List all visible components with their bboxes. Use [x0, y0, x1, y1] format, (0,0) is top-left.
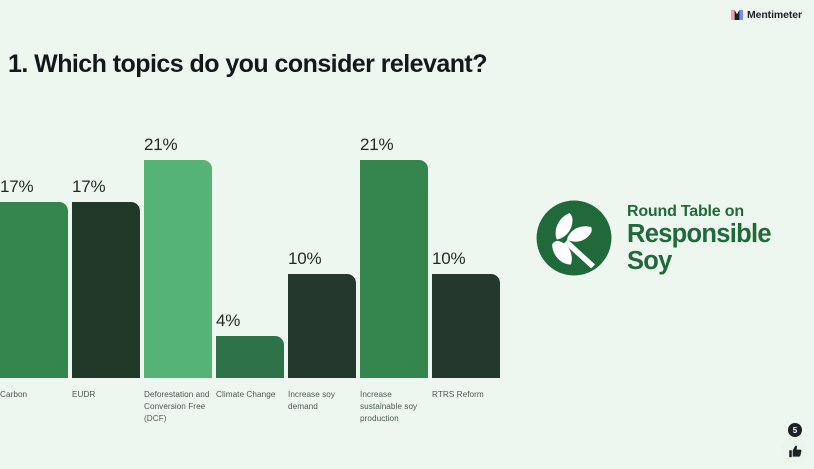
category-label: Increasesustainable soyproduction [360, 389, 430, 425]
category-label-line: Climate Change [216, 389, 286, 401]
bar-value-label: 17% [72, 177, 140, 197]
reaction-widget[interactable]: 5 [780, 423, 810, 465]
bar-value-label: 21% [360, 135, 428, 155]
mentimeter-m-icon [731, 9, 743, 21]
bar-group: 17% [0, 120, 68, 378]
bar [72, 202, 140, 378]
category-label-line: Increase [360, 389, 430, 401]
bar-group: 17% [72, 120, 140, 378]
presentation-slide: Mentimeter 1. Which topics do you consid… [0, 0, 814, 469]
rtrs-line-3: Soy [627, 248, 771, 275]
bar-value-label: 21% [144, 135, 212, 155]
category-label: Deforestation andConversion Free(DCF) [144, 389, 214, 425]
category-label-line: Deforestation and [144, 389, 214, 401]
mentimeter-wordmark: Mentimeter [747, 9, 802, 21]
category-label: EUDR [72, 389, 142, 401]
category-label-line: (DCF) [144, 413, 214, 425]
bar-value-label: 4% [216, 311, 284, 331]
thumbs-up-icon[interactable] [781, 437, 809, 465]
category-label-line: EUDR [72, 389, 142, 401]
category-label-line: Conversion Free [144, 401, 214, 413]
bar-value-label: 10% [288, 249, 356, 269]
category-label-line: RTRS Reform [432, 389, 502, 401]
category-label-line: production [360, 413, 430, 425]
rtrs-line-1: Round Table on [627, 202, 771, 221]
category-label: Climate Change [216, 389, 286, 401]
category-label-line: Carbon [0, 389, 70, 401]
mentimeter-branding: Mentimeter [731, 8, 802, 22]
bar [360, 160, 428, 378]
rtrs-line-2: Responsible [627, 221, 771, 248]
category-label: Increase soydemand [288, 389, 358, 413]
bar [0, 202, 68, 378]
bar-group: 10% [288, 120, 356, 378]
bar-group: 21% [360, 120, 428, 378]
bar-group: 10% [432, 120, 500, 378]
bar-group: 4% [216, 120, 284, 378]
category-label: RTRS Reform [432, 389, 502, 401]
category-label-line: sustainable soy [360, 401, 430, 413]
three-leaves-circle-icon [535, 199, 613, 277]
bar [216, 336, 284, 378]
chart-plot-area: 17%17%21%4%10%21%10% [0, 120, 520, 378]
bar-chart: 17%17%21%4%10%21%10% CarbonEUDRDeforesta… [0, 120, 520, 430]
bar [144, 160, 212, 378]
category-label: Carbon [0, 389, 70, 401]
rtrs-logo: Round Table on Responsible Soy [535, 192, 785, 284]
bar-value-label: 17% [0, 177, 68, 197]
category-label-line: demand [288, 401, 358, 413]
reaction-count-badge: 5 [788, 423, 802, 437]
page-title: 1. Which topics do you consider relevant… [8, 50, 487, 79]
bar-group: 21% [144, 120, 212, 378]
bar-value-label: 10% [432, 249, 500, 269]
bar [432, 274, 500, 378]
rtrs-wordmark: Round Table on Responsible Soy [627, 202, 771, 275]
category-label-line: Increase soy [288, 389, 358, 401]
bar [288, 274, 356, 378]
